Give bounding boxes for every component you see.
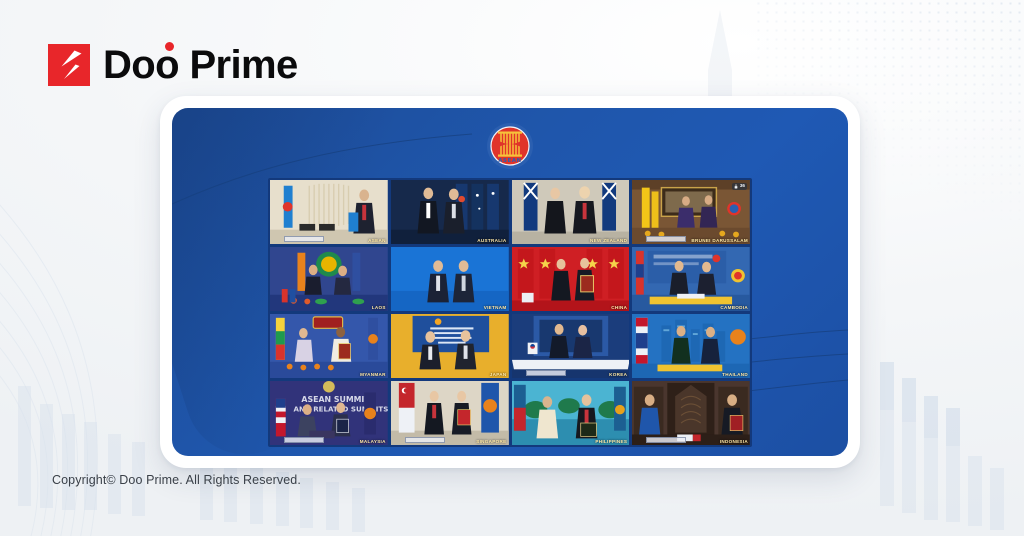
video-tile-brunei[interactable]: 36 BRUNEI DARUSSALAM	[632, 180, 750, 244]
tile-scene	[632, 314, 750, 378]
lock-icon	[734, 184, 738, 189]
video-tile-laos[interactable]: LAOS	[270, 247, 388, 311]
tile-nameplate	[405, 437, 445, 443]
video-tile-malaysia[interactable]: ASEAN SUMMIT AND RELATED SUMMITS	[270, 381, 388, 445]
tile-scene	[391, 180, 509, 244]
video-tile-singapore[interactable]: SINGAPORE	[391, 381, 509, 445]
tile-scene	[632, 381, 750, 445]
tile-scene	[270, 247, 388, 311]
video-tile-asean[interactable]: ASEAN	[270, 180, 388, 244]
tile-label: ASEAN	[368, 238, 386, 243]
brand-name: Doo Prime	[103, 45, 298, 85]
tile-scene	[632, 247, 750, 311]
tile-label: INDONESIA	[720, 439, 748, 444]
video-tile-cambodia[interactable]: CAMBODIA	[632, 247, 750, 311]
svg-text:ASEAN: ASEAN	[498, 158, 521, 164]
meeting-card: ASEAN	[160, 96, 860, 468]
tile-label: MALAYSIA	[360, 439, 386, 444]
meeting-stage: ASEAN	[172, 108, 848, 456]
video-tile-thailand[interactable]: THAILAND	[632, 314, 750, 378]
svg-text:ASEAN SUMMIT: ASEAN SUMMIT	[301, 395, 370, 404]
participant-count-badge[interactable]: 36	[732, 183, 747, 190]
tile-nameplate	[526, 370, 566, 376]
tile-nameplate	[646, 236, 686, 242]
tile-scene	[391, 247, 509, 311]
tile-label: CHINA	[611, 305, 627, 310]
tile-label: MYANMAR	[360, 372, 386, 377]
tile-label: VIETNAM	[484, 305, 507, 310]
tile-scene	[270, 180, 388, 244]
tile-nameplate	[284, 236, 324, 242]
video-tile-china[interactable]: CHINA	[512, 247, 630, 311]
tile-label: BRUNEI DARUSSALAM	[691, 238, 748, 243]
video-grid: ASEAN	[268, 178, 752, 447]
tile-scene	[512, 180, 630, 244]
tile-label: NEW ZEALAND	[590, 238, 627, 243]
doo-prime-logomark-icon	[48, 44, 90, 86]
tile-label: JAPAN	[490, 372, 507, 377]
video-tile-philippines[interactable]: PHILIPPINES	[512, 381, 630, 445]
brand-lockup: Doo Prime	[48, 44, 298, 86]
tile-label: KOREA	[609, 372, 627, 377]
tile-label: AUSTRALIA	[477, 238, 506, 243]
tile-scene	[512, 314, 630, 378]
video-tile-japan[interactable]: JAPAN	[391, 314, 509, 378]
tile-label: SINGAPORE	[476, 439, 506, 444]
video-tile-indonesia[interactable]: INDONESIA	[632, 381, 750, 445]
page-background: Doo Prime	[0, 0, 1024, 536]
tile-scene	[391, 381, 509, 445]
tile-scene	[512, 247, 630, 311]
video-tile-vietnam[interactable]: VIETNAM	[391, 247, 509, 311]
tile-scene: ASEAN SUMMIT AND RELATED SUMMITS	[270, 381, 388, 445]
video-tile-new-zealand[interactable]: NEW ZEALAND	[512, 180, 630, 244]
tile-scene	[391, 314, 509, 378]
brand-accent-dot-icon	[165, 42, 174, 51]
video-tile-australia[interactable]: AUSTRALIA	[391, 180, 509, 244]
asean-emblem-icon: ASEAN	[486, 122, 534, 170]
tile-nameplate	[646, 437, 686, 443]
participant-count: 36	[740, 184, 745, 189]
tile-label: THAILAND	[722, 372, 748, 377]
video-tile-myanmar[interactable]: MYANMAR	[270, 314, 388, 378]
tile-scene	[270, 314, 388, 378]
copyright-text: Copyright© Doo Prime. All Rights Reserve…	[52, 473, 301, 487]
tile-label: LAOS	[372, 305, 386, 310]
tile-nameplate	[284, 437, 324, 443]
tile-scene	[512, 381, 630, 445]
tile-label: PHILIPPINES	[595, 439, 627, 444]
tile-label: CAMBODIA	[720, 305, 748, 310]
video-tile-korea[interactable]: KOREA	[512, 314, 630, 378]
